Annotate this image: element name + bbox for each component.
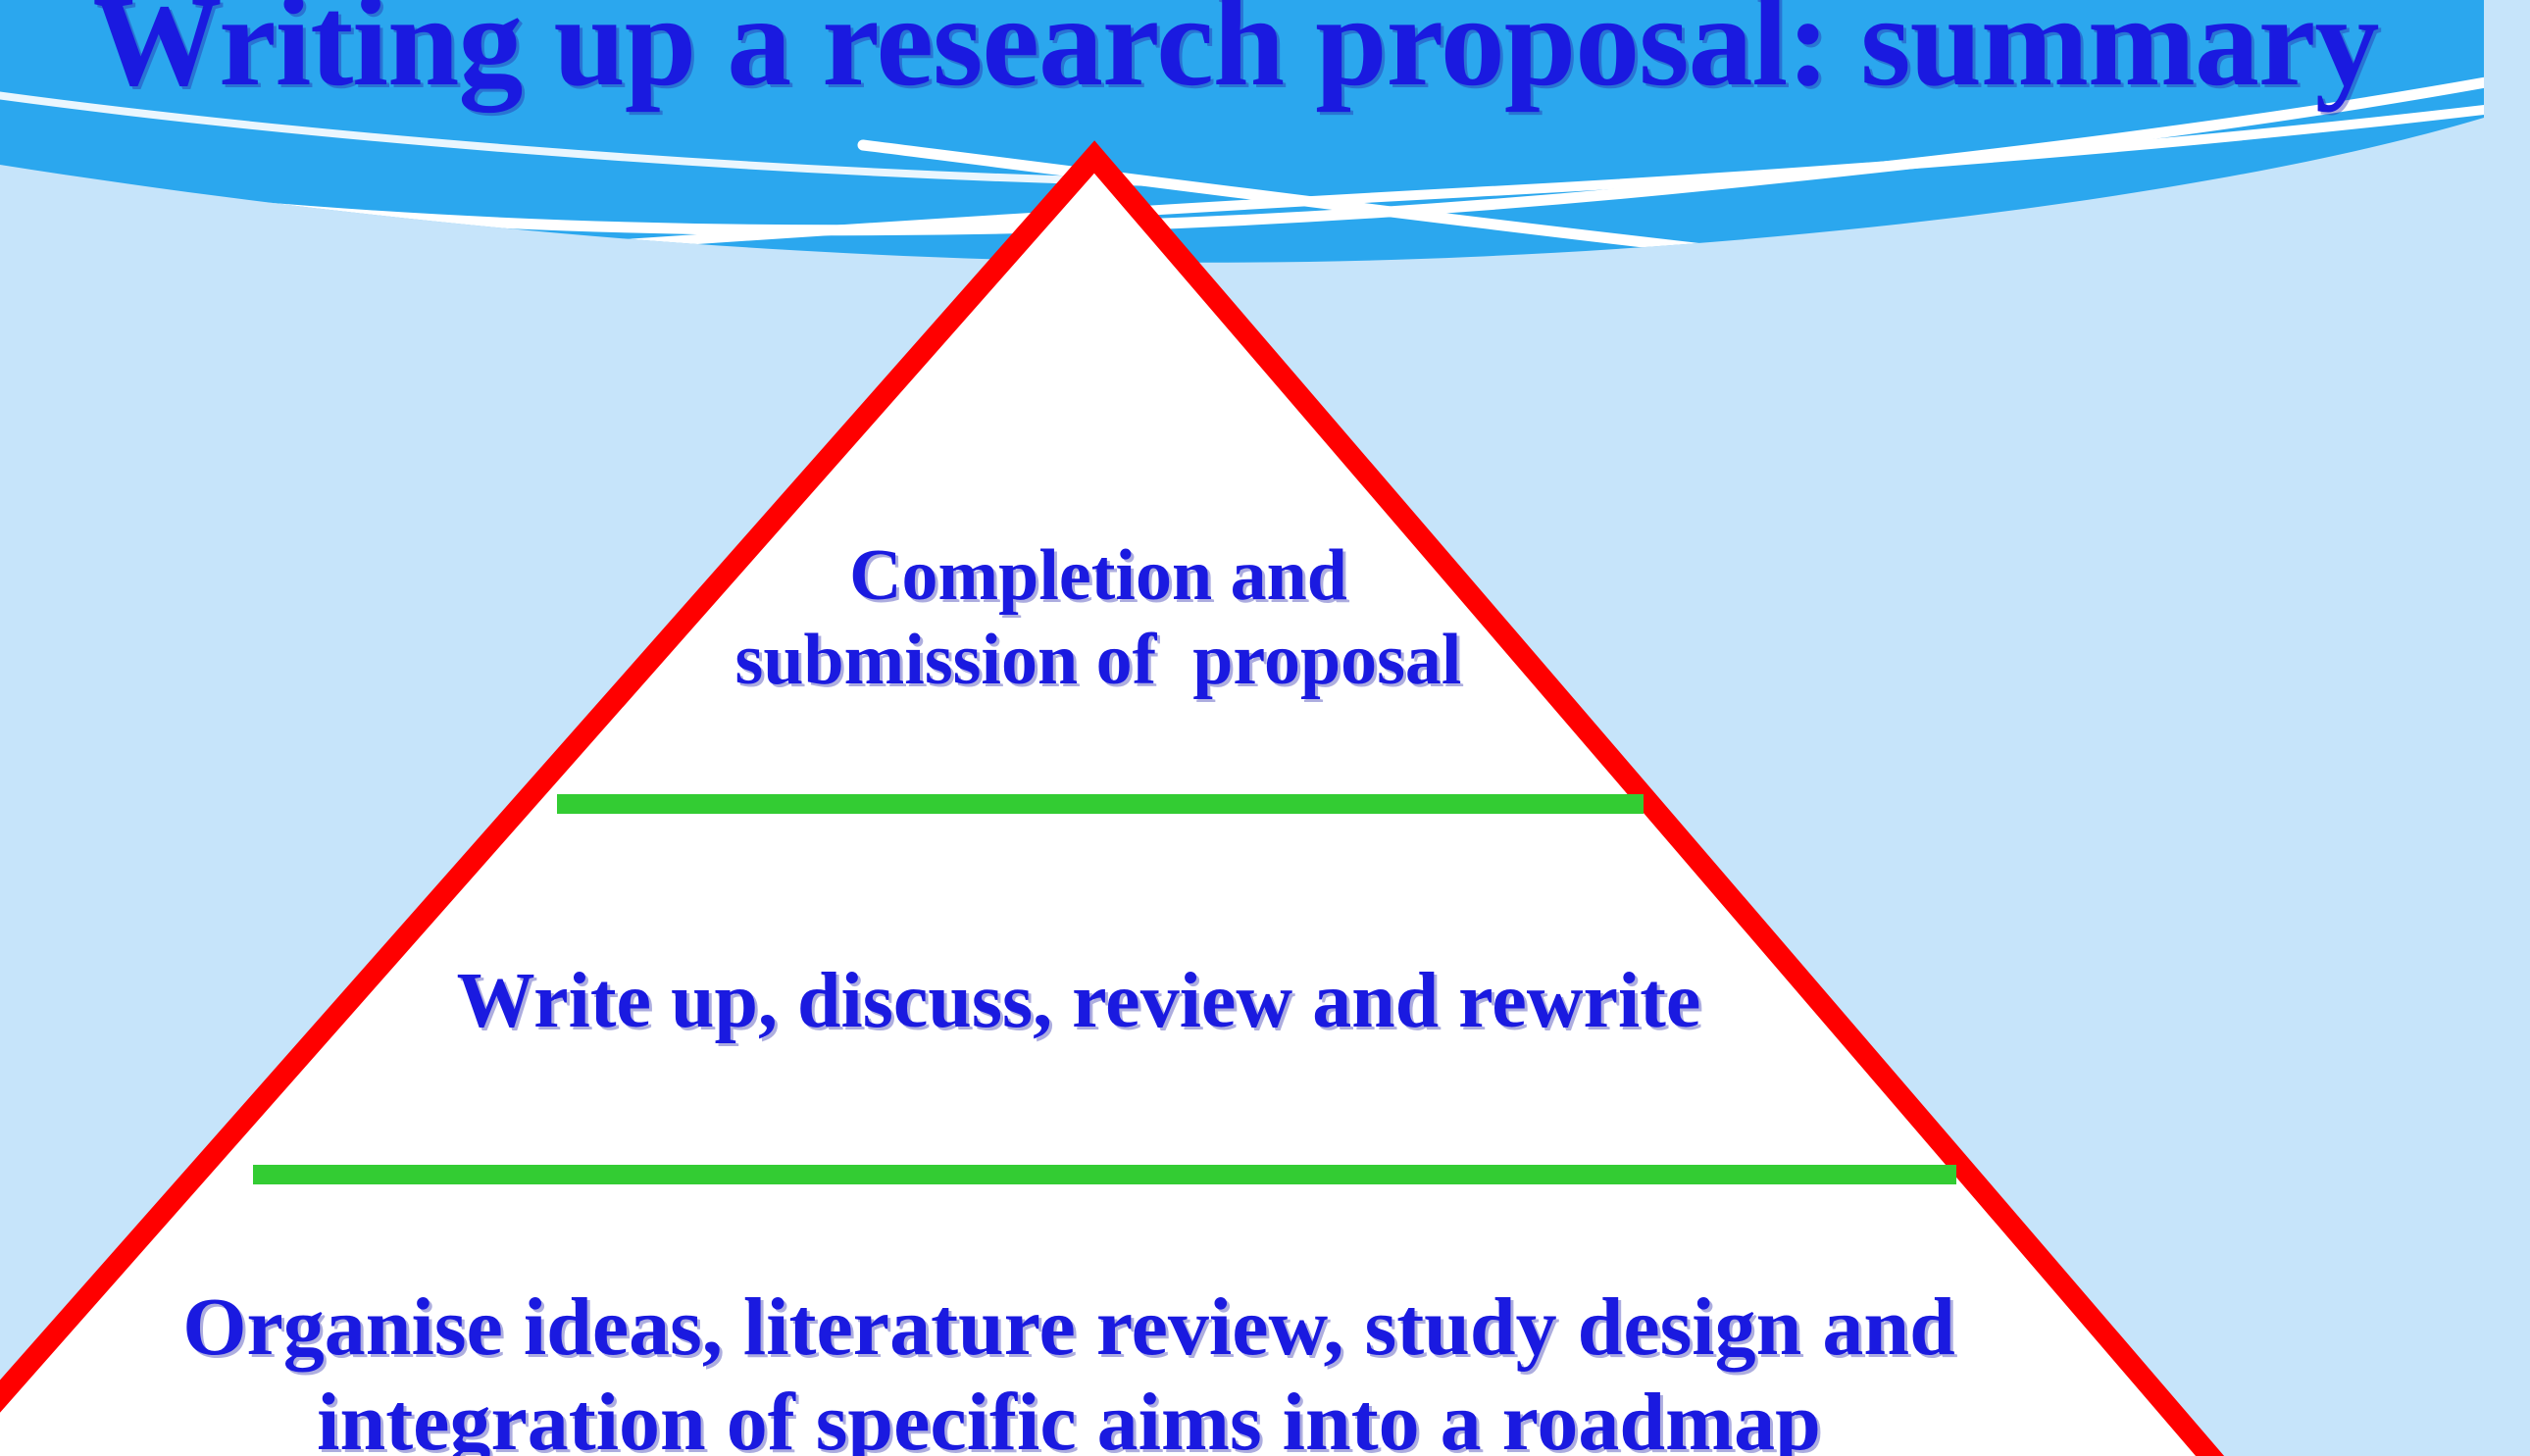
pyramid-diagram xyxy=(0,0,2530,1456)
pyramid-tier-bottom-label: Organise ideas, literature review, study… xyxy=(127,1280,2010,1456)
pyramid-tier-middle-label: Write up, discuss, review and rewrite xyxy=(382,956,1775,1047)
slide-canvas: Writing up a research proposal: summary … xyxy=(0,0,2530,1456)
pyramid-tier-top-label: Completion and submission of proposal xyxy=(628,534,1569,703)
